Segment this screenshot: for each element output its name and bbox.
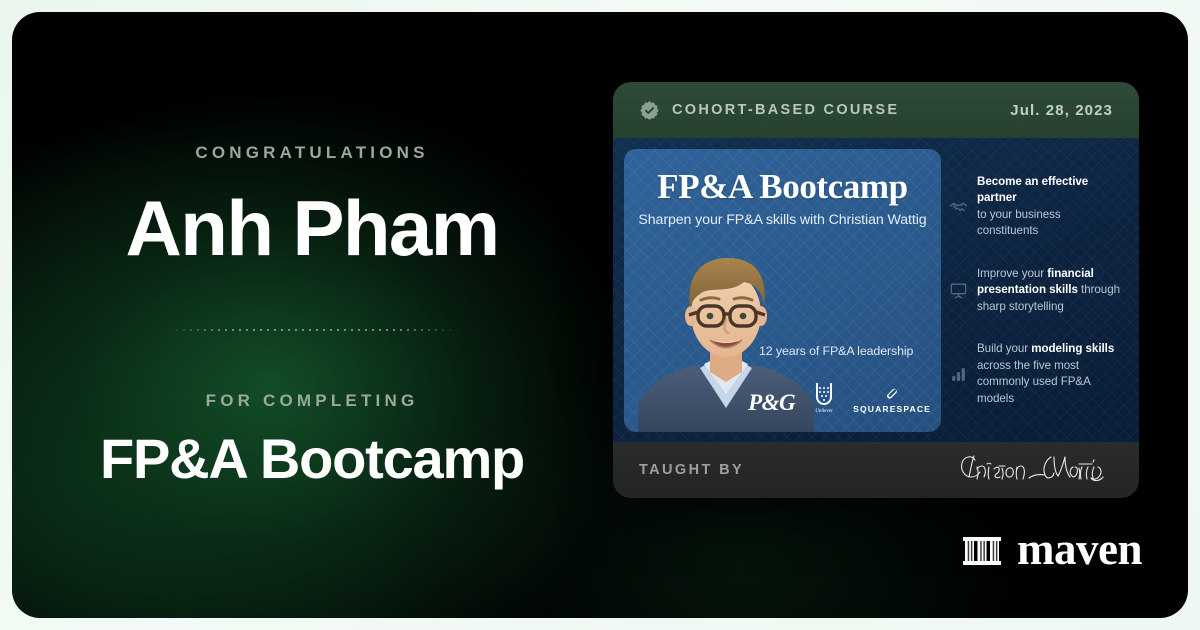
bar-chart-icon [949,365,968,384]
recipient-name: Anh Pham [126,189,499,267]
handshake-icon [949,197,968,216]
presentation-icon [949,281,968,300]
benefit-item: Build your modeling skills across the fi… [949,341,1123,407]
instructor-signature [953,447,1113,491]
course-type-label: COHORT-BASED COURSE [672,102,899,118]
pg-logo: P&G [748,391,795,414]
verified-badge-icon [639,100,660,121]
promo-title: FP&A Bootcamp [624,167,941,207]
benefit-bold: modeling skills [1031,342,1114,355]
benefit-post: across the five most commonly used FP&A … [977,359,1090,405]
course-card-header: COHORT-BASED COURSE Jul. 28, 2023 [613,82,1139,138]
maven-logo: maven [961,527,1142,572]
congratulations-label: CONGRATULATIONS [195,143,428,163]
promo-footer: 12 years of FP&A leadership [759,344,927,358]
company-logos: P&G Unilever [748,380,931,414]
benefit-item: Improve your financial presentation skil… [949,266,1123,315]
maven-pillars-icon [961,529,1003,571]
benefit-pre: Build your [977,342,1031,355]
maven-wordmark: maven [1017,527,1142,572]
unilever-logo: Unilever [809,380,839,414]
benefit-item: Become an effective partner to your busi… [949,174,1123,240]
certificate-left-column: CONGRATULATIONS Anh Pham FOR COMPLETING … [12,12,612,618]
benefit-text: Build your modeling skills across the fi… [977,341,1123,407]
certificate-card: CONGRATULATIONS Anh Pham FOR COMPLETING … [12,12,1188,618]
benefit-bold: Become an effective partner [977,175,1088,204]
promo-subtitle: Sharpen your FP&A skills with Christian … [624,212,941,228]
course-promo-tile: FP&A Bootcamp Sharpen your FP&A skills w… [624,149,941,432]
benefit-text: Become an effective partner to your busi… [977,174,1123,240]
course-name: FP&A Bootcamp [100,431,524,487]
course-card-footer: TAUGHT BY [613,442,1139,498]
course-benefits-list: Become an effective partner to your busi… [941,152,1139,442]
section-divider [162,329,462,331]
benefit-pre: Improve your [977,267,1047,280]
course-date: Jul. 28, 2023 [1010,102,1113,119]
benefit-text: Improve your financial presentation skil… [977,266,1123,315]
svg-text:Unilever: Unilever [815,409,833,414]
course-card-body: FP&A Bootcamp Sharpen your FP&A skills w… [613,138,1139,442]
promo-experience-line: 12 years of FP&A leadership [759,344,927,358]
course-card[interactable]: COHORT-BASED COURSE Jul. 28, 2023 FP&A B… [613,82,1139,498]
squarespace-wordmark: SQUARESPACE [853,404,931,414]
taught-by-label: TAUGHT BY [639,462,744,478]
for-completing-label: FOR COMPLETING [206,391,419,411]
benefit-rest: to your business constituents [977,208,1061,237]
squarespace-logo: SQUARESPACE [853,385,931,414]
